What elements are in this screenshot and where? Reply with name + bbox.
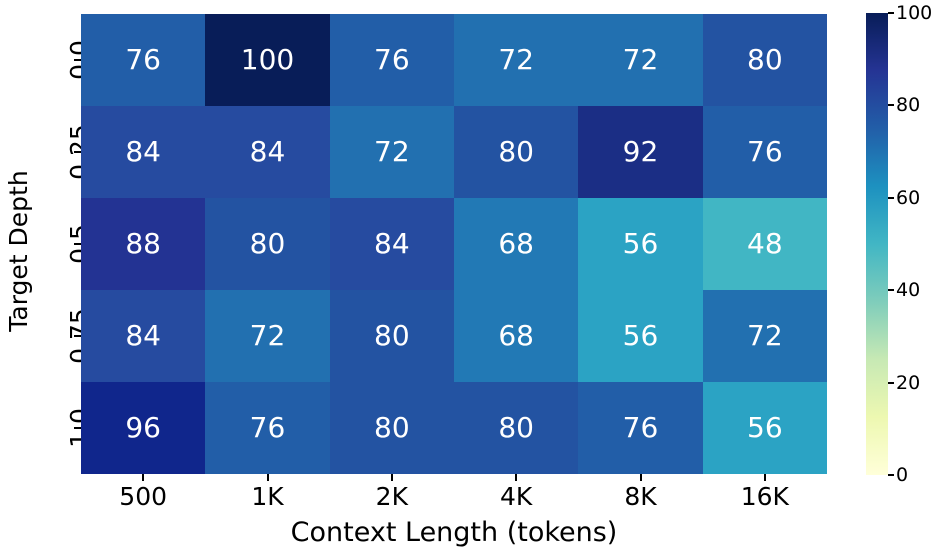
y-tick-mark bbox=[74, 243, 81, 245]
heatmap-cell: 84 bbox=[81, 290, 205, 382]
colorbar-tick-mark bbox=[888, 104, 894, 106]
x-tick-label: 4K bbox=[456, 482, 576, 512]
heatmap-cell: 48 bbox=[703, 198, 827, 290]
x-tick-label: 16K bbox=[705, 482, 825, 512]
heatmap-cell: 80 bbox=[703, 14, 827, 106]
heatmap-cell: 72 bbox=[703, 290, 827, 382]
heatmap-cell: 76 bbox=[330, 14, 454, 106]
heatmap-cell: 68 bbox=[454, 290, 578, 382]
heatmap-cell: 100 bbox=[205, 14, 329, 106]
heatmap-cell: 56 bbox=[703, 382, 827, 474]
colorbar-tick-mark bbox=[888, 12, 894, 14]
heatmap-cell: 96 bbox=[81, 382, 205, 474]
colorbar-tick-label: 60 bbox=[896, 186, 920, 210]
heatmap-cell: 80 bbox=[330, 382, 454, 474]
y-axis-label: Target Depth bbox=[4, 14, 34, 488]
heatmap-cell: 68 bbox=[454, 198, 578, 290]
x-tick-mark bbox=[515, 474, 517, 481]
heatmap-cell: 80 bbox=[454, 382, 578, 474]
x-tick-mark bbox=[142, 474, 144, 481]
heatmap-cell: 56 bbox=[578, 198, 702, 290]
heatmap-cell: 88 bbox=[81, 198, 205, 290]
x-tick-label: 1K bbox=[208, 482, 328, 512]
heatmap-figure: Target Depth 0.00.250.50.751.0 761007672… bbox=[0, 0, 940, 558]
x-tick-label: 2K bbox=[332, 482, 452, 512]
heatmap-cell: 76 bbox=[81, 14, 205, 106]
x-axis-label: Context Length (tokens) bbox=[81, 516, 827, 550]
colorbar-tick-mark bbox=[888, 474, 894, 476]
colorbar-tick-label: 40 bbox=[896, 278, 920, 302]
colorbar-tick-label: 20 bbox=[896, 371, 920, 395]
x-tick-mark bbox=[640, 474, 642, 481]
heatmap-cell: 80 bbox=[205, 198, 329, 290]
heatmap-grid: 7610076727280848472809276888084685648847… bbox=[81, 14, 827, 474]
y-tick-mark bbox=[74, 59, 81, 61]
x-tick-label: 8K bbox=[581, 482, 701, 512]
heatmap-cell: 72 bbox=[454, 14, 578, 106]
colorbar-tick-mark bbox=[888, 197, 894, 199]
heatmap-cell: 80 bbox=[330, 290, 454, 382]
colorbar-tick-mark bbox=[888, 289, 894, 291]
heatmap-cell: 76 bbox=[703, 106, 827, 198]
heatmap-cell: 84 bbox=[81, 106, 205, 198]
y-tick-mark bbox=[74, 427, 81, 429]
heatmap-cell: 84 bbox=[330, 198, 454, 290]
heatmap-cell: 84 bbox=[205, 106, 329, 198]
x-tick-label: 500 bbox=[83, 482, 203, 512]
y-tick-mark bbox=[74, 335, 81, 337]
colorbar-tick-label: 0 bbox=[896, 463, 908, 487]
colorbar-tick-label: 80 bbox=[896, 93, 920, 117]
heatmap-cell: 92 bbox=[578, 106, 702, 198]
heatmap-cell: 76 bbox=[578, 382, 702, 474]
heatmap-cell: 72 bbox=[205, 290, 329, 382]
colorbar-tick-label: 100 bbox=[896, 1, 932, 25]
y-tick-mark bbox=[74, 151, 81, 153]
x-tick-mark bbox=[267, 474, 269, 481]
colorbar bbox=[866, 13, 888, 475]
heatmap-cell: 72 bbox=[330, 106, 454, 198]
x-tick-mark bbox=[764, 474, 766, 481]
heatmap-cell: 80 bbox=[454, 106, 578, 198]
x-tick-mark bbox=[391, 474, 393, 481]
heatmap-cell: 72 bbox=[578, 14, 702, 106]
heatmap-cell: 76 bbox=[205, 382, 329, 474]
colorbar-gradient bbox=[866, 13, 888, 475]
colorbar-tick-mark bbox=[888, 382, 894, 384]
heatmap-cell: 56 bbox=[578, 290, 702, 382]
